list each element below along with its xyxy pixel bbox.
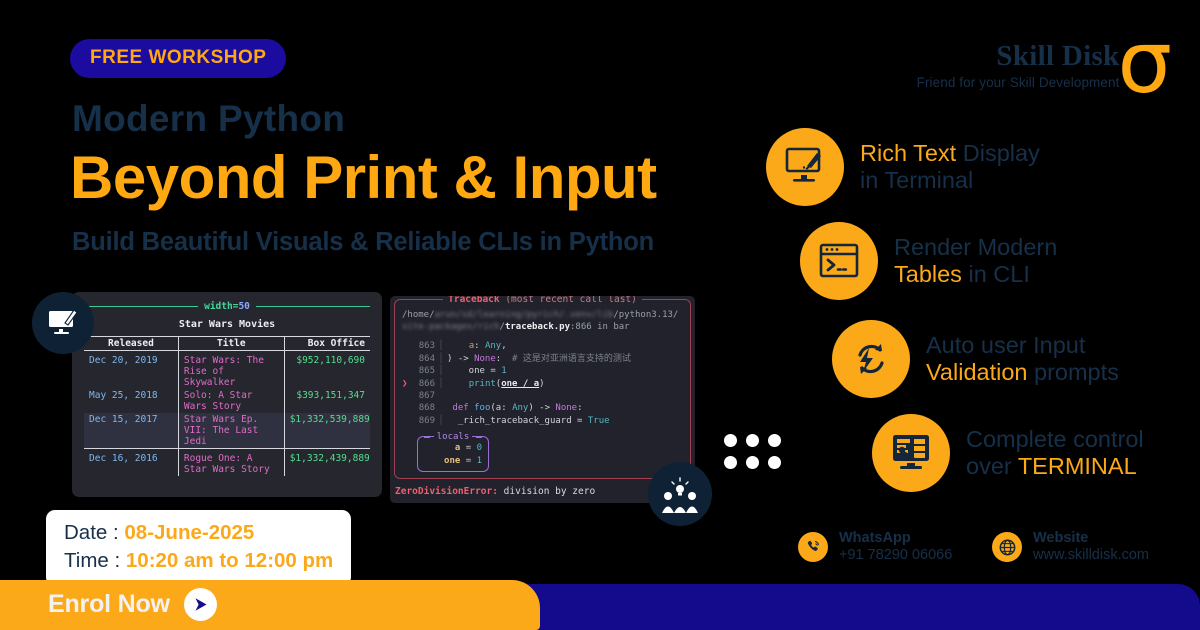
feature-label: Rich Text Display in Terminal: [860, 140, 1040, 195]
locals-label: locals: [434, 432, 473, 442]
cell-box-office: $1,332,539,889: [284, 413, 370, 449]
code-gutter: │: [435, 353, 447, 365]
width-label-text: width=: [204, 301, 238, 312]
locals-line-left: [424, 437, 430, 438]
whatsapp-icon: [798, 532, 828, 562]
path-blurred-1: arun/sd/learning/pyrich/.venv/lib: [435, 310, 614, 320]
locals-row: a = 0: [424, 442, 482, 455]
feature-rest-2: over: [966, 453, 1018, 479]
kicker-text: Modern Python: [72, 98, 345, 140]
table-header-row: Released Title Box Office: [84, 337, 370, 351]
free-workshop-badge: FREE WORKSHOP: [70, 39, 286, 78]
width-label-value: 50: [238, 301, 249, 312]
path-suffix: :866 in bar: [570, 322, 630, 332]
code-marker: [402, 415, 411, 427]
contact-value: +91 78290 06066: [839, 547, 952, 564]
schedule-card: Date : 08-June-2025 Time : 10:20 am to 1…: [46, 510, 351, 586]
path-filename: traceback.py: [505, 322, 570, 332]
date-label: Date :: [64, 521, 124, 544]
traceback-screenshot: Traceback (most recent call last) /home/…: [390, 296, 695, 503]
feature-rest: Render Modern: [894, 234, 1057, 260]
feature-item-validation: Auto user Input Validation prompts: [832, 320, 1119, 398]
dot: [724, 434, 737, 447]
code-gutter: │: [435, 378, 447, 390]
cell-title: Star Wars: The Rise of Skywalker: [178, 351, 284, 390]
refresh-bolt-icon: [832, 320, 910, 398]
movies-table: Released Title Box Office Dec 20, 2019 S…: [84, 336, 370, 476]
path-blurred-2: site-packages/rich: [402, 322, 500, 332]
table-row: Dec 20, 2019 Star Wars: The Rise of Skyw…: [84, 351, 370, 390]
feature-highlight: Validation: [926, 359, 1027, 385]
cell-box-office: $393,151,347: [284, 389, 370, 413]
rich-table-screenshot: width=50 Star Wars Movies Released Title…: [72, 292, 382, 497]
panel-line-right: [648, 299, 682, 300]
code-line-current: ❯866│ print(one / a): [402, 378, 683, 390]
dot: [768, 434, 781, 447]
code-line-number: 869: [411, 415, 435, 427]
code-marker: [402, 340, 411, 352]
page-title: Beyond Print & Input: [70, 148, 657, 208]
feature-rest-2: in Terminal: [860, 167, 973, 193]
code-gutter: [435, 402, 447, 414]
code-source: def foo(a: Any) -> None:: [447, 402, 583, 414]
code-line-number: 866: [411, 378, 435, 390]
code-source: a: Any,: [447, 340, 507, 352]
code-gutter: │: [435, 415, 447, 427]
cell-title: Star Wars Ep. VII: The Last Jedi: [178, 413, 284, 449]
table-row: May 25, 2018 Solo: A Star Wars Story $39…: [84, 389, 370, 413]
code-gutter: [435, 390, 447, 402]
enrol-now-button[interactable]: Enrol Now: [48, 588, 217, 621]
cell-released: May 25, 2018: [84, 389, 178, 413]
locals-panel: locals a = 0 one = 1: [417, 436, 489, 472]
table-row: Dec 16, 2016 Rogue One: A Star Wars Stor…: [84, 449, 370, 477]
team-idea-badge-icon: [648, 462, 712, 526]
cell-title: Rogue One: A Star Wars Story: [178, 449, 284, 477]
code-source: ) -> None: # 这是对亚洲语言支持的测试: [447, 353, 631, 365]
code-marker: ❯: [402, 378, 411, 390]
brand-logo: Skill Disk Friend for your Skill Develop…: [917, 38, 1172, 108]
feature-rest: Display: [956, 140, 1040, 166]
code-gutter: │: [435, 340, 447, 352]
code-source: print(one / a): [447, 378, 545, 390]
code-source: one = 1: [447, 365, 507, 377]
feature-rest: Auto user Input: [926, 332, 1085, 358]
terminal-window-icon: [800, 222, 878, 300]
contact-text-block: Website www.skilldisk.com: [1033, 530, 1149, 564]
panel-line-left: [403, 299, 437, 300]
local-name: a: [455, 443, 460, 453]
cell-released: Dec 16, 2016: [84, 449, 178, 477]
local-name: one: [444, 456, 460, 466]
column-header-box-office: Box Office: [284, 337, 370, 351]
column-header-title: Title: [178, 337, 284, 351]
code-line-number: 867: [411, 390, 435, 402]
traceback-title-bold: Traceback: [448, 296, 499, 305]
contact-text-block: WhatsApp +91 78290 06066: [839, 530, 952, 564]
code-line-number: 865: [411, 365, 435, 377]
monitor-dashboard-icon: [872, 414, 950, 492]
feature-rest: Complete control: [966, 426, 1144, 452]
code-line-number: 864: [411, 353, 435, 365]
feature-item-terminal-control: Complete control over TERMINAL: [872, 414, 1144, 492]
contact-whatsapp[interactable]: WhatsApp +91 78290 06066: [798, 530, 952, 564]
code-line: 865│ one = 1: [402, 365, 683, 377]
feature-rest-2: in CLI: [962, 261, 1030, 287]
code-marker: [402, 365, 411, 377]
path-mid: /python3.13/: [613, 310, 678, 320]
error-message: division by zero: [498, 486, 595, 497]
cell-box-office: $952,110,690: [284, 351, 370, 390]
monitor-brush-icon: [766, 128, 844, 206]
feature-highlight: TERMINAL: [1018, 453, 1137, 479]
table-width-rule: width=50: [84, 301, 370, 312]
feature-label: Render Modern Tables in CLI: [894, 234, 1057, 289]
error-name: ZeroDivisionError:: [395, 486, 498, 497]
contact-title: WhatsApp: [839, 530, 952, 547]
feature-label: Auto user Input Validation prompts: [926, 332, 1119, 387]
monitor-brush-badge-icon: [32, 292, 94, 354]
column-header-released: Released: [84, 337, 178, 351]
sigma-icon: σ: [1117, 30, 1172, 97]
contact-value: www.skilldisk.com: [1033, 547, 1149, 564]
code-line-number: 863: [411, 340, 435, 352]
code-marker: [402, 390, 411, 402]
dot: [746, 456, 759, 469]
page-subtitle: Build Beautiful Visuals & Reliable CLIs …: [72, 228, 654, 257]
date-value: 08-June-2025: [124, 521, 254, 544]
feature-label: Complete control over TERMINAL: [966, 426, 1144, 481]
cell-released: Dec 15, 2017: [84, 413, 178, 449]
logo-text-block: Skill Disk Friend for your Skill Develop…: [917, 38, 1124, 90]
feature-item-rich-text: Rich Text Display in Terminal: [766, 128, 1040, 206]
contact-title: Website: [1033, 530, 1149, 547]
code-line: 869│ _rich_traceback_guard = True: [402, 415, 683, 427]
contact-website[interactable]: Website www.skilldisk.com: [992, 530, 1149, 564]
code-marker: [402, 353, 411, 365]
code-line: 868 def foo(a: Any) -> None:: [402, 402, 683, 414]
schedule-date-row: Date : 08-June-2025: [64, 519, 333, 547]
cell-title: Solo: A Star Wars Story: [178, 389, 284, 413]
code-line: 864│) -> None: # 这是对亚洲语言支持的测试: [402, 353, 683, 365]
dot-grid-decoration: [724, 434, 781, 469]
code-marker: [402, 402, 411, 414]
dot: [724, 456, 737, 469]
code-line: 863│ a: Any,: [402, 340, 683, 352]
table-row: Dec 15, 2017 Star Wars Ep. VII: The Last…: [84, 413, 370, 449]
locals-row: one = 1: [424, 455, 482, 468]
code-source: [447, 390, 452, 402]
rule-line-right: [256, 306, 370, 307]
path-prefix: /home/: [402, 310, 435, 320]
logo-tagline: Friend for your Skill Development: [917, 75, 1120, 90]
locals-line-right: [476, 437, 482, 438]
cell-box-office: $1,332,439,889: [284, 449, 370, 477]
code-source: _rich_traceback_guard = True: [447, 415, 610, 427]
traceback-panel: Traceback (most recent call last) /home/…: [394, 299, 691, 479]
logo-name: Skill Disk: [917, 42, 1120, 71]
dot: [768, 456, 781, 469]
schedule-time-row: Time : 10:20 am to 12:00 pm: [64, 547, 333, 575]
code-line: 867: [402, 390, 683, 402]
code-gutter: │: [435, 365, 447, 377]
enrol-now-label: Enrol Now: [48, 590, 170, 619]
local-value: 0: [477, 443, 482, 453]
traceback-title: Traceback (most recent call last): [443, 296, 642, 305]
feature-highlight: Rich Text: [860, 140, 956, 166]
traceback-code-block: 863│ a: Any, 864│) -> None: # 这是对亚洲语言支持的…: [395, 333, 690, 429]
traceback-panel-header: Traceback (most recent call last): [395, 296, 690, 305]
traceback-title-rest: (most recent call last): [500, 296, 637, 305]
time-value: 10:20 am to 12:00 pm: [126, 549, 333, 572]
cell-released: Dec 20, 2019: [84, 351, 178, 390]
feature-item-tables: Render Modern Tables in CLI: [800, 222, 1057, 300]
play-arrow-icon: [184, 588, 217, 621]
code-line-number: 868: [411, 402, 435, 414]
table-title: Star Wars Movies: [84, 319, 370, 330]
time-label: Time :: [64, 549, 126, 572]
rule-line-left: [84, 306, 198, 307]
dot: [746, 434, 759, 447]
width-label: width=50: [204, 301, 250, 312]
traceback-file-path: /home/arun/sd/learning/pyrich/.venv/lib/…: [395, 305, 690, 333]
feature-highlight: Tables: [894, 261, 962, 287]
locals-header: locals: [424, 432, 482, 442]
local-value: 1: [477, 456, 482, 466]
globe-icon: [992, 532, 1022, 562]
feature-rest-2: prompts: [1027, 359, 1118, 385]
